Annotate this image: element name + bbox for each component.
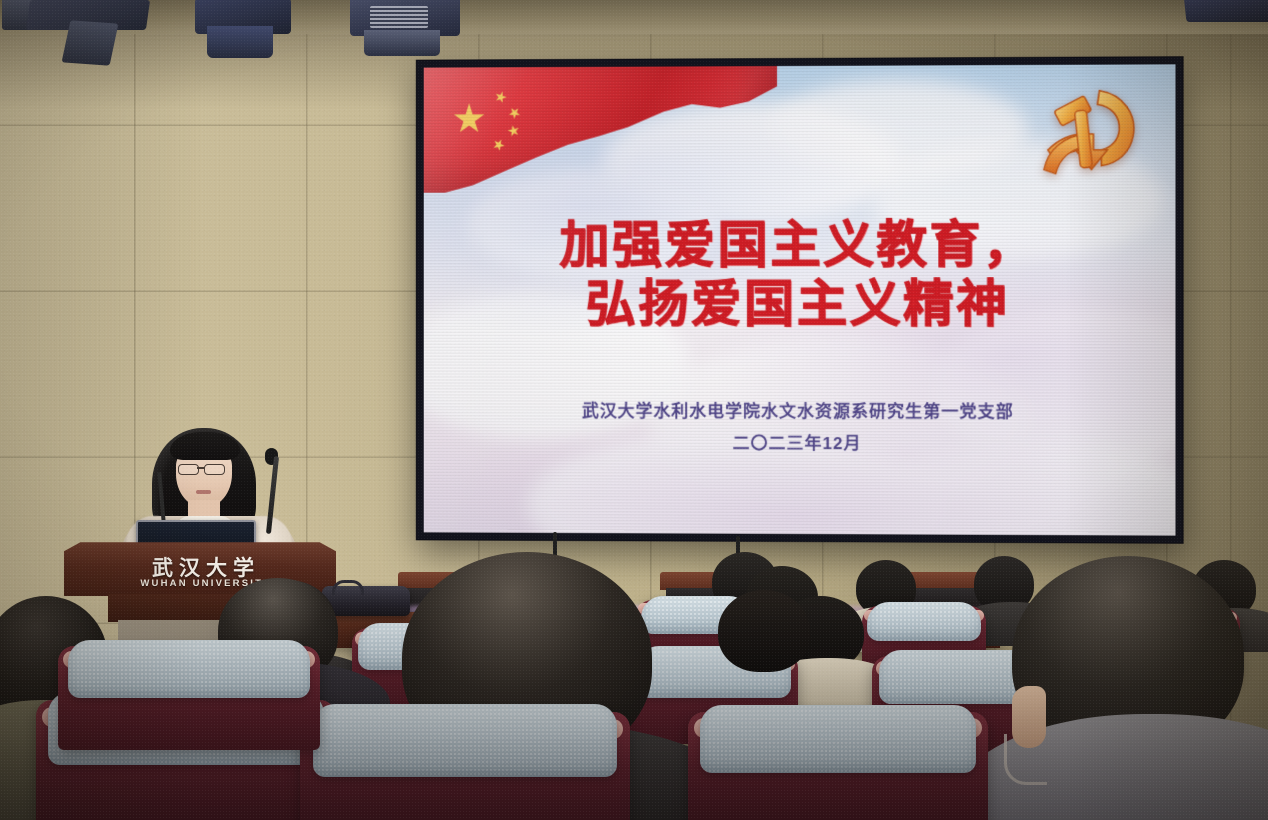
- photo-vignette: [0, 0, 1268, 820]
- lecture-hall-photo: 加强爱国主义教育， 弘扬爱国主义精神 武汉大学水利水电学院水文水资源系研究生第一…: [0, 0, 1268, 820]
